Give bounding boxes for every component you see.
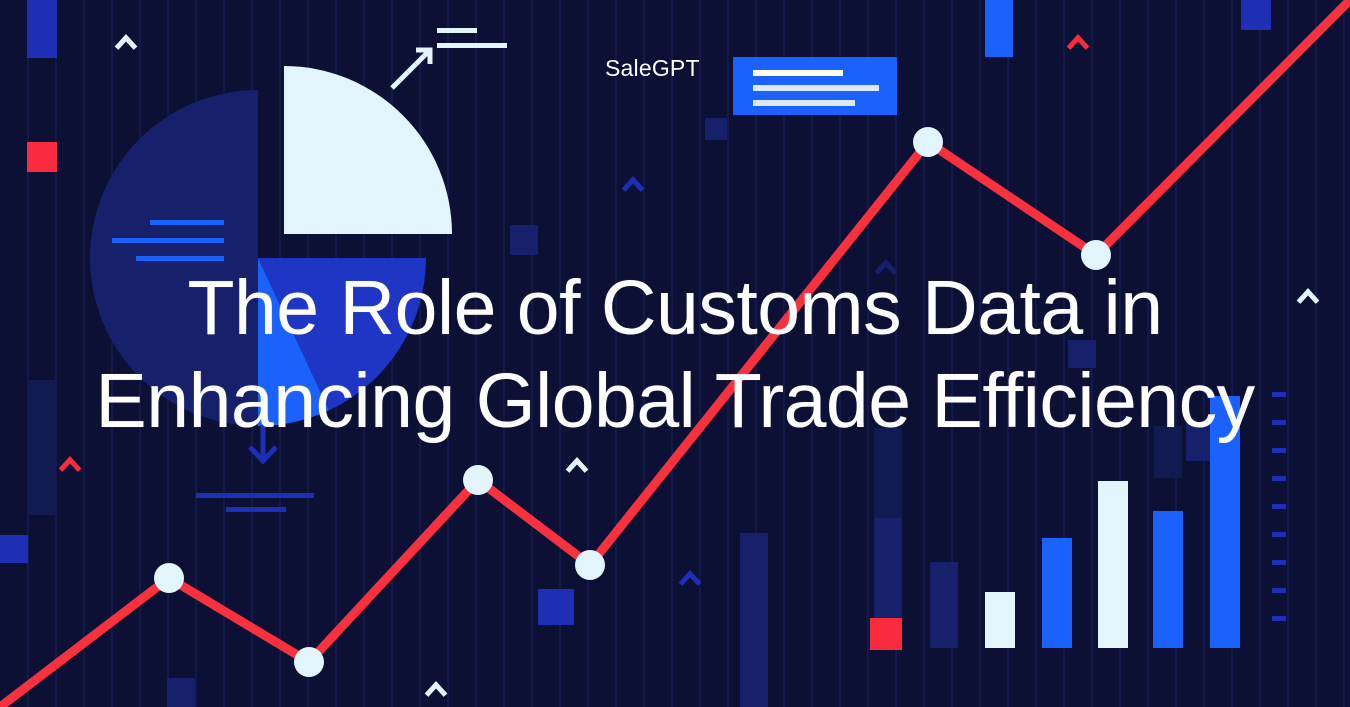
chevron-up-icon xyxy=(1069,38,1088,48)
page-title: The Role of Customs Data in Enhancing Gl… xyxy=(0,262,1350,448)
page-title-line-1: The Role of Customs Data in xyxy=(0,262,1350,355)
chevron-up-icon xyxy=(568,461,587,471)
hero-banner: SaleGPT The Role of Customs Data in Enha… xyxy=(0,0,1350,707)
chevron-up-icon xyxy=(61,460,80,470)
chevron-up-icon xyxy=(427,685,446,695)
chevron-up-icon xyxy=(117,38,136,48)
page-title-line-2: Enhancing Global Trade Efficiency xyxy=(0,355,1350,448)
brand-label: SaleGPT xyxy=(605,55,700,82)
chevron-up-icon xyxy=(624,180,643,190)
chevron-up-icon xyxy=(681,574,700,584)
